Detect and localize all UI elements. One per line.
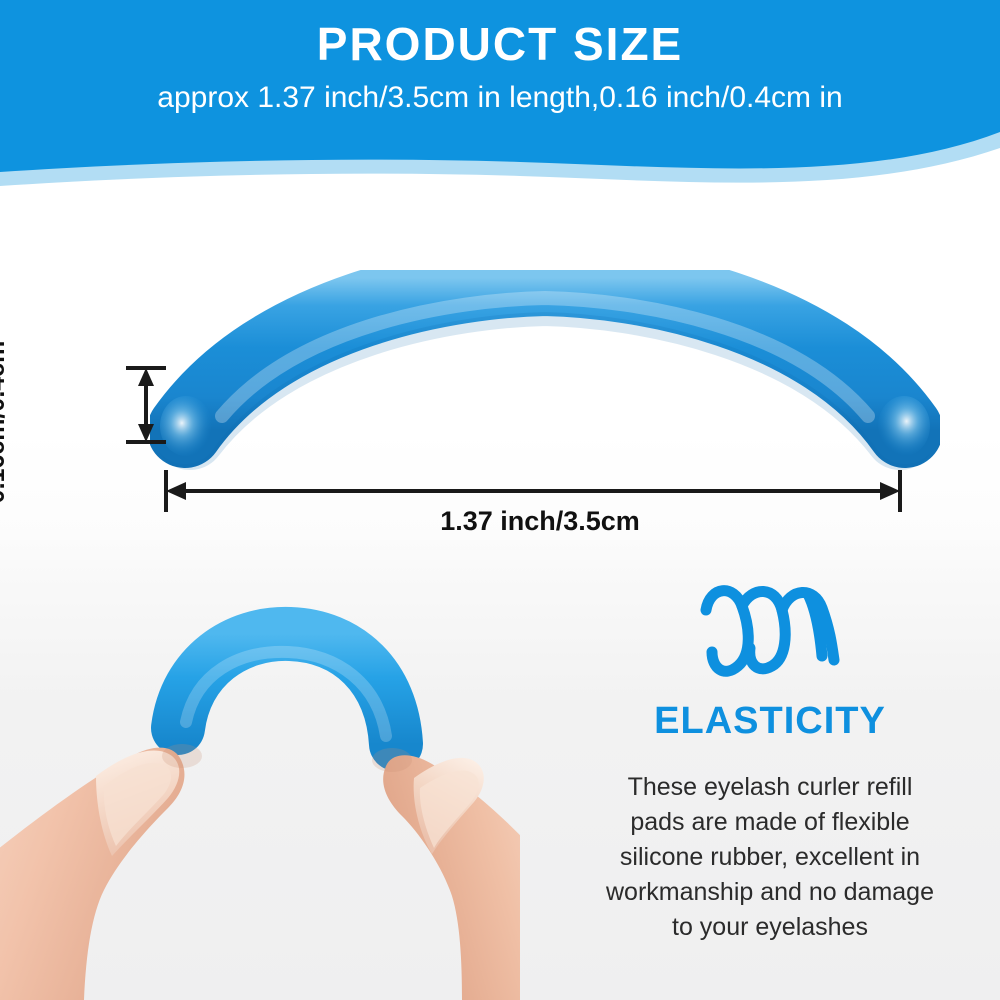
dimension-annotations: 0.16cm/0.4cm 1.37 inch/3.5cm: [0, 250, 1000, 560]
elasticity-heading: ELASTICITY: [540, 700, 1000, 743]
description-line: These eyelash curler refill: [550, 770, 990, 805]
elasticity-description: These eyelash curler refill pads are mad…: [550, 770, 990, 945]
page-title: PRODUCT SIZE: [0, 16, 1000, 72]
hand-bending-pad-photo: [0, 580, 520, 1000]
description-line: to your eyelashes: [550, 910, 990, 945]
description-line: pads are made of flexible: [550, 805, 990, 840]
description-line: workmanship and no damage: [550, 875, 990, 910]
product-infographic-page: PRODUCT SIZE approx 1.37 inch/3.5cm in l…: [0, 0, 1000, 1000]
thickness-dimension-label: 0.16cm/0.4cm: [0, 322, 11, 522]
page-subtitle: approx 1.37 inch/3.5cm in length,0.16 in…: [0, 79, 1000, 117]
spring-coil-icon: [540, 580, 1000, 690]
length-dimension-label: 1.37 inch/3.5cm: [230, 506, 850, 537]
spring-coil-glyph: [690, 580, 850, 685]
description-line: silicone rubber, excellent in: [550, 840, 990, 875]
fingers-and-bent-pad-illustration: [0, 580, 520, 1000]
header-banner: PRODUCT SIZE approx 1.37 inch/3.5cm in l…: [0, 0, 1000, 200]
